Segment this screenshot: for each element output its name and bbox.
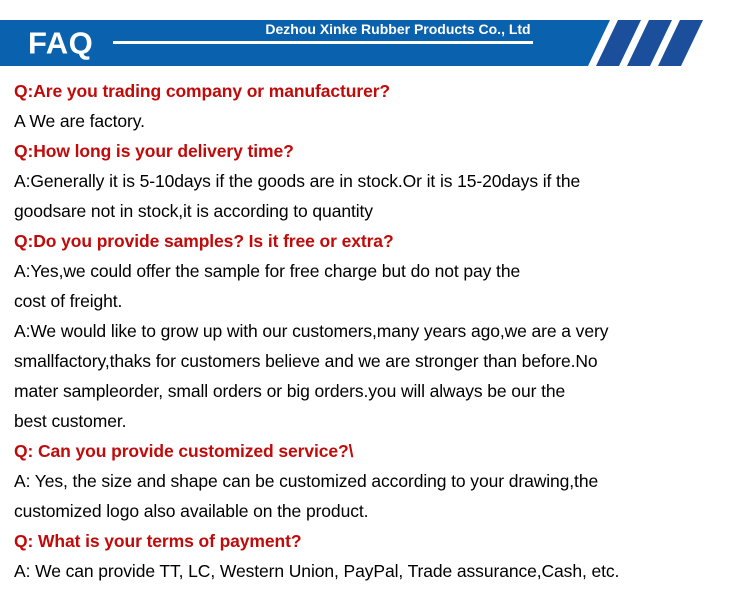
faq-answer: customized logo also available on the pr… (14, 496, 740, 526)
faq-answer: best customer. (14, 406, 740, 436)
faq-page: FAQ Dezhou Xinke Rubber Products Co., Lt… (0, 0, 750, 613)
faq-answer: A We are factory. (14, 106, 740, 136)
faq-answer: A:Generally it is 5-10days if the goods … (14, 166, 740, 196)
page-title: FAQ (28, 28, 93, 59)
faq-answer: A:We would like to grow up with our cust… (14, 316, 740, 346)
faq-question: Q:Do you provide samples? Is it free or … (14, 226, 740, 256)
faq-question: Q:How long is your delivery time? (14, 136, 740, 166)
faq-answer: A: Yes, the size and shape can be custom… (14, 466, 740, 496)
banner-rule (113, 41, 533, 44)
faq-answer: A:Yes,we could offer the sample for free… (14, 256, 740, 286)
faq-answer: goodsare not in stock,it is according to… (14, 196, 740, 226)
faq-answer: cost of freight. (14, 286, 740, 316)
faq-answer: mater sampleorder, small orders or big o… (14, 376, 740, 406)
faq-question: Q: What is your terms of payment? (14, 526, 740, 556)
faq-answer: smallfactory,thaks for customers believe… (14, 346, 740, 376)
faq-content: Q:Are you trading company or manufacture… (14, 76, 740, 586)
faq-question: Q:Are you trading company or manufacture… (14, 76, 740, 106)
faq-question: Q: Can you provide customized service?\ (14, 436, 740, 466)
company-name: Dezhou Xinke Rubber Products Co., Ltd (253, 22, 543, 36)
header-banner: FAQ Dezhou Xinke Rubber Products Co., Lt… (0, 20, 750, 66)
faq-answer: A: We can provide TT, LC, Western Union,… (14, 556, 740, 586)
